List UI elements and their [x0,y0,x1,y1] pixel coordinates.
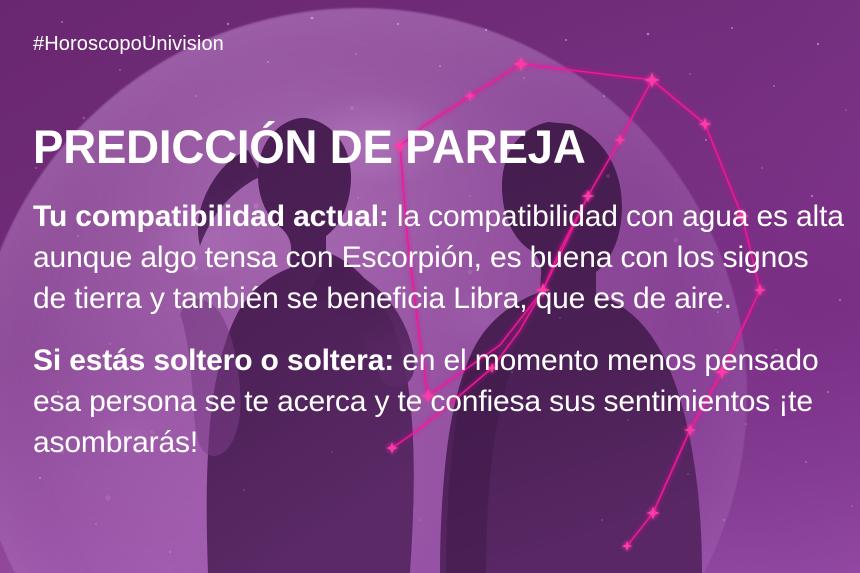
paragraph-single: Si estás soltero o soltera: en el moment… [33,340,845,463]
hashtag-label: #HoroscopoUnivision [33,33,224,56]
paragraph-compatibility-lead: Tu compatibilidad actual: [33,200,389,233]
card-content: #HoroscopoUnivision PREDICCIÓN DE PAREJA… [0,0,860,573]
paragraph-compatibility: Tu compatibilidad actual: la compatibili… [33,196,845,319]
horoscope-card: #HoroscopoUnivision PREDICCIÓN DE PAREJA… [0,0,860,573]
page-title: PREDICCIÓN DE PAREJA [33,123,586,170]
paragraph-single-lead: Si estás soltero o soltera: [33,344,394,377]
body-copy: Tu compatibilidad actual: la compatibili… [33,196,845,463]
